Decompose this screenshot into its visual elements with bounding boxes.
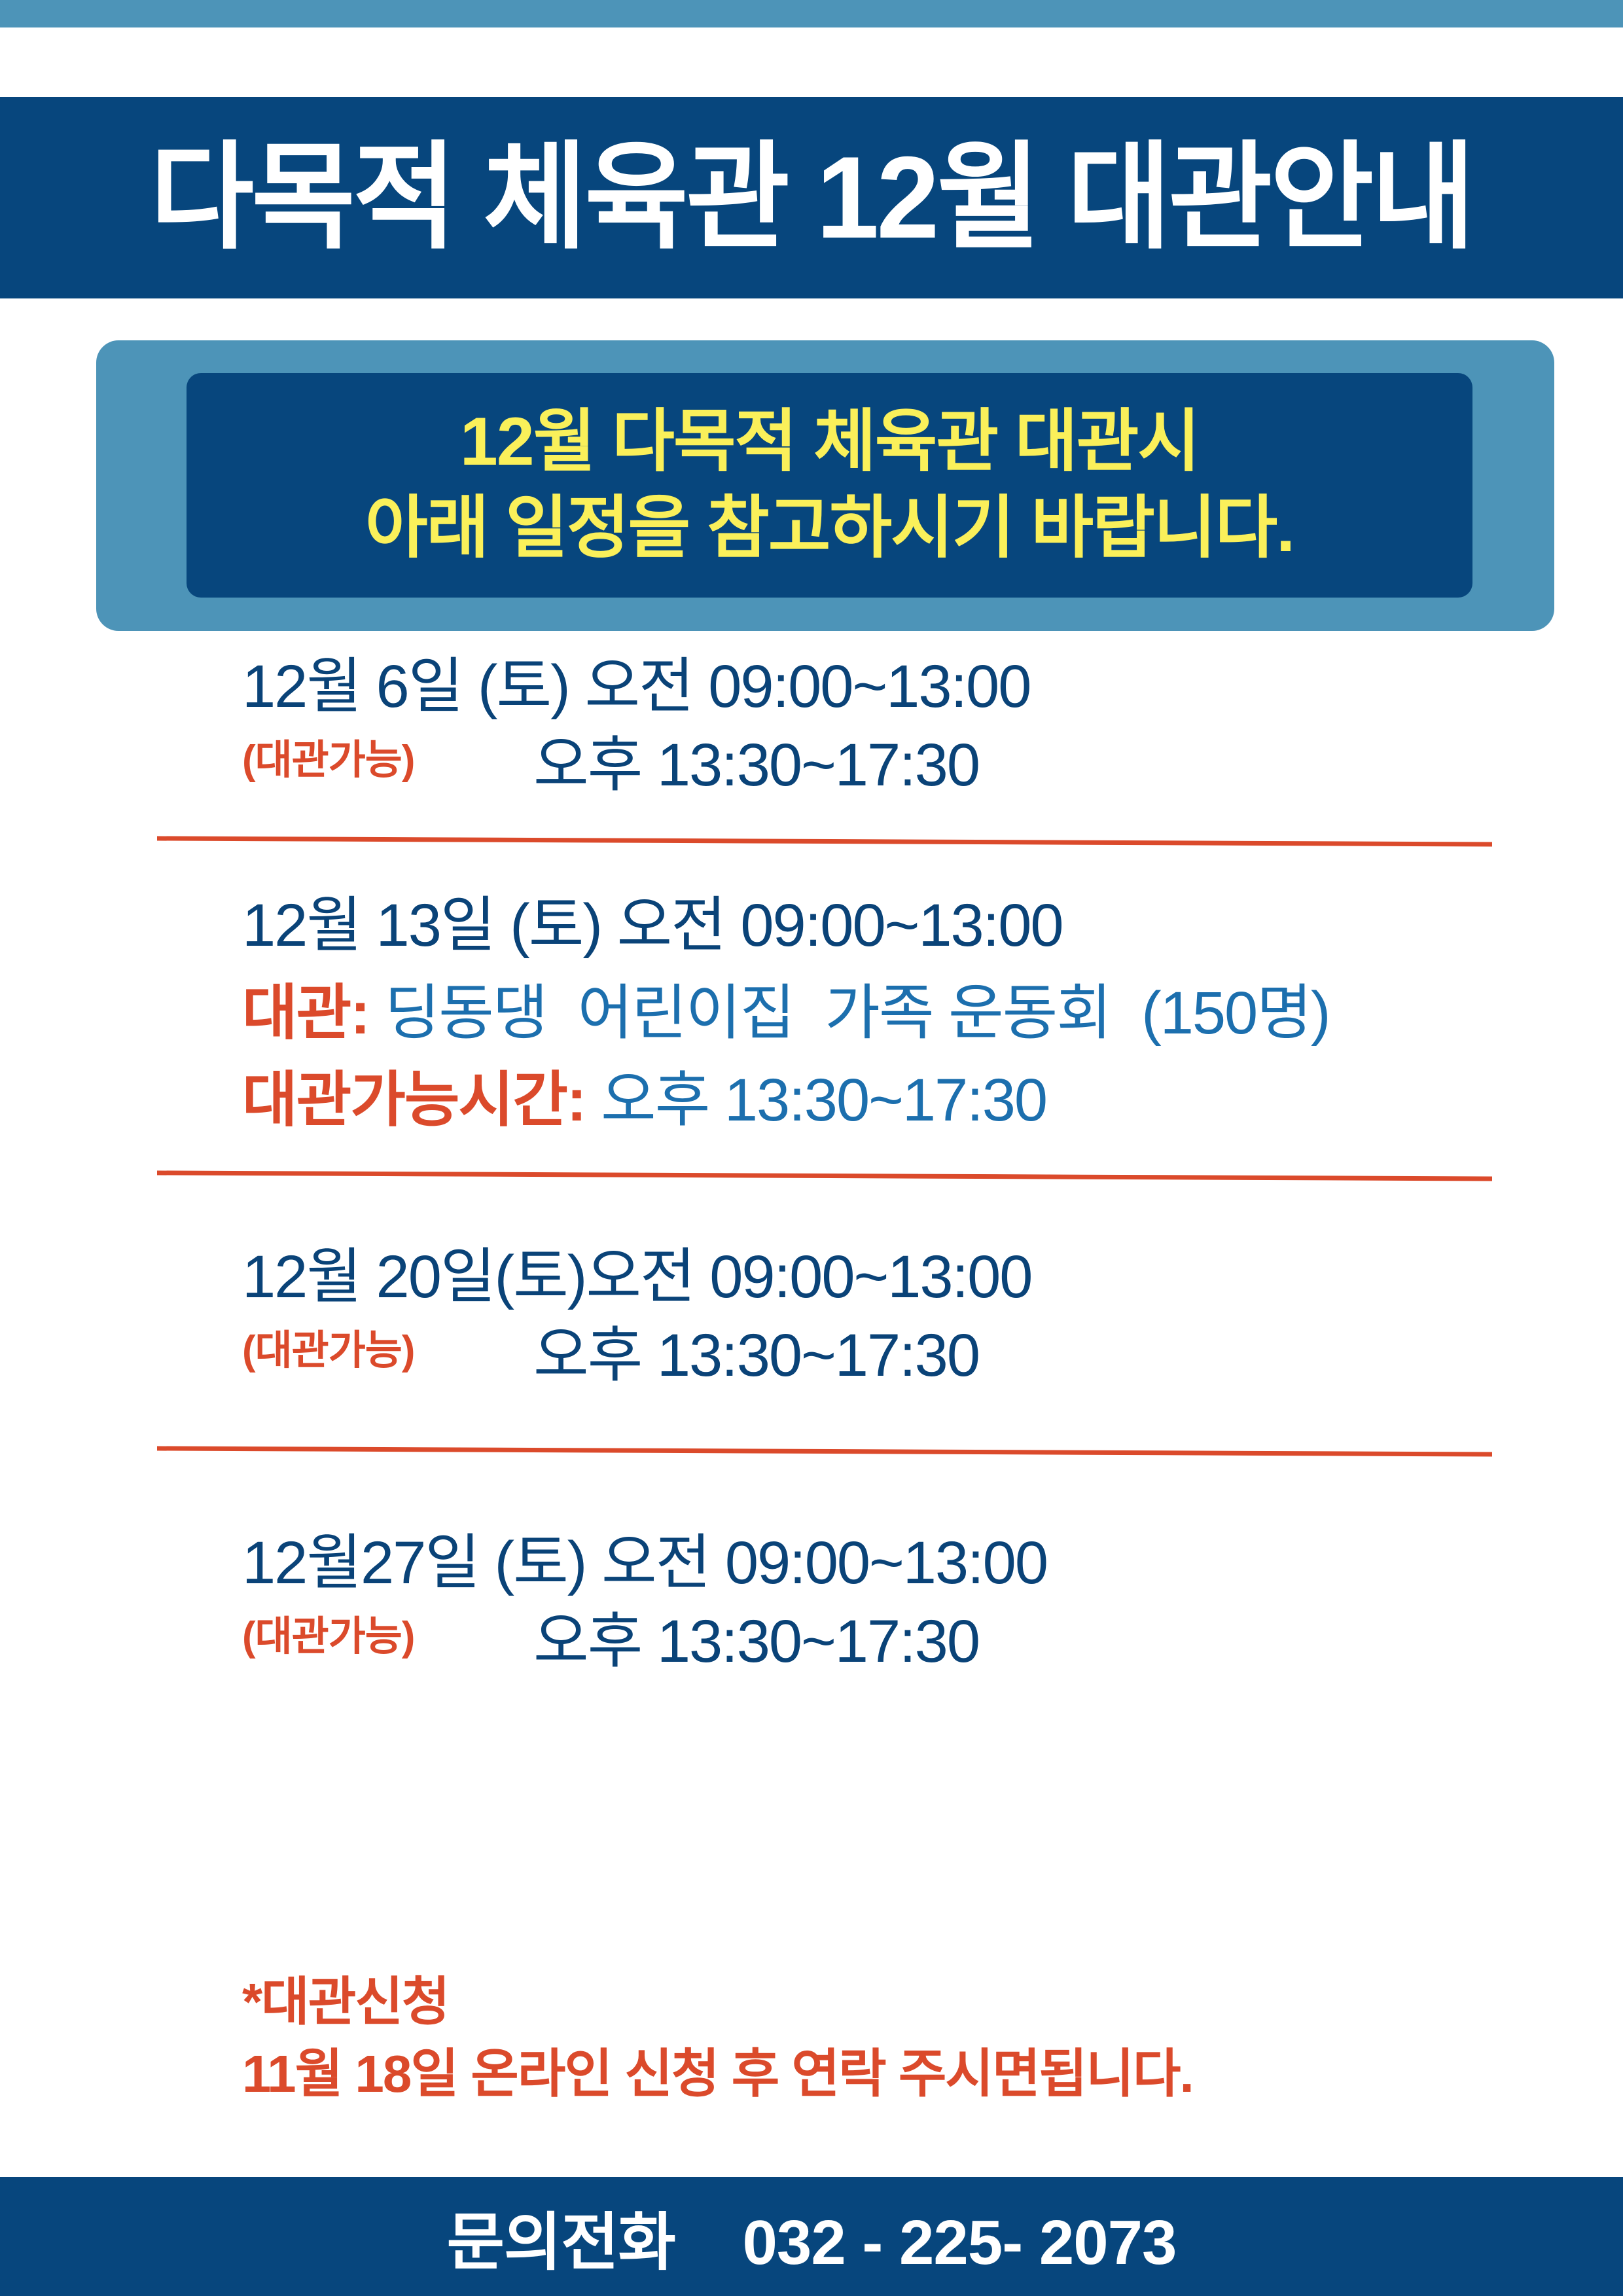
entry-divider <box>0 834 1623 849</box>
entry-date-text: 12월 13일 (토) 오전 09:00~13:00 <box>242 887 1063 965</box>
schedule-entry: 12월 13일 (토) 오전 09:00~13:00 대관: 딩동댕 어린이집 … <box>0 849 1623 1140</box>
status-badge: (대관가능) <box>242 1614 414 1659</box>
available-value: 오후 13:30~17:30 <box>601 1062 1046 1140</box>
available-label: 대관가능시간: <box>242 1062 601 1140</box>
afternoon-time-cell: 오후 13:30~17:30 <box>501 1603 979 1681</box>
title-banner: 다목적 체육관 12월 대관안내 <box>0 97 1623 298</box>
entry-date-row: 12월 20일(토)오전 09:00~13:00 <box>242 1238 1623 1317</box>
afternoon-time-cell: 오후 13:30~17:30 <box>501 726 979 805</box>
callout-line-2: 아래 일정을 참고하시기 바랍니다. <box>365 486 1294 571</box>
entry-date-text: 12월27일 (토) 오전 09:00~13:00 <box>242 1524 1047 1603</box>
application-note: *대관신청 11월 18일 온라인 신청 후 연락 주시면됩니다. <box>242 1966 1486 2111</box>
entry-available-row: 대관가능시간: 오후 13:30~17:30 <box>242 1062 1623 1140</box>
divider-line-icon <box>0 1444 1623 1459</box>
page-title: 다목적 체육관 12월 대관안내 <box>150 139 1472 256</box>
availability-tag-cell: (대관가능) <box>242 1317 501 1373</box>
entry-divider <box>0 1169 1623 1183</box>
divider-line-icon <box>0 834 1623 849</box>
footer-contact-bar: 문의전화 032 - 225- 2073 <box>0 2177 1623 2296</box>
entry-second-row: (대관가능) 오후 13:30~17:30 <box>242 1317 1623 1395</box>
entry-date-row: 12월27일 (토) 오전 09:00~13:00 <box>242 1524 1623 1603</box>
afternoon-time-cell: 오후 13:30~17:30 <box>501 1317 979 1395</box>
entry-date-text: 12월 20일(토)오전 09:00~13:00 <box>242 1238 1031 1317</box>
schedule-entry: 12월 6일 (토) 오전 09:00~13:00 (대관가능) 오후 13:3… <box>0 648 1623 804</box>
contact-phone-text: 문의전화 032 - 225- 2073 <box>447 2191 1177 2282</box>
status-badge: (대관가능) <box>242 738 414 783</box>
entry-date-text: 12월 6일 (토) 오전 09:00~13:00 <box>242 648 1030 726</box>
callout-panel: 12월 다목적 체육관 대관시 아래 일정을 참고하시기 바랍니다. <box>187 373 1472 598</box>
note-line-2: 11월 18일 온라인 신청 후 연락 주시면됩니다. <box>242 2038 1486 2110</box>
entry-second-row: (대관가능) 오후 13:30~17:30 <box>242 726 1623 805</box>
schedule-entry: 12월 20일(토)오전 09:00~13:00 (대관가능) 오후 13:30… <box>0 1183 1623 1395</box>
entry-divider <box>0 1444 1623 1459</box>
entry-booking-row: 대관: 딩동댕 어린이집 가족 운동회 (150명) <box>242 975 1623 1053</box>
callout-line-1: 12월 다목적 체육관 대관시 <box>460 399 1199 485</box>
entry-afternoon-text: 오후 13:30~17:30 <box>533 1322 979 1389</box>
entry-date-row: 12월 6일 (토) 오전 09:00~13:00 <box>242 648 1623 726</box>
schedule-list: 12월 6일 (토) 오전 09:00~13:00 (대관가능) 오후 13:3… <box>0 648 1623 1681</box>
booking-label: 대관: <box>242 975 384 1053</box>
entry-afternoon-text: 오후 13:30~17:30 <box>533 732 979 798</box>
entry-second-row: (대관가능) 오후 13:30~17:30 <box>242 1603 1623 1681</box>
schedule-entry: 12월27일 (토) 오전 09:00~13:00 (대관가능) 오후 13:3… <box>0 1459 1623 1681</box>
top-accent-bar <box>0 0 1623 27</box>
entry-date-row: 12월 13일 (토) 오전 09:00~13:00 <box>242 887 1623 965</box>
entry-afternoon-text: 오후 13:30~17:30 <box>533 1608 979 1675</box>
availability-tag-cell: (대관가능) <box>242 726 501 783</box>
divider-line-icon <box>0 1169 1623 1183</box>
status-badge: (대관가능) <box>242 1328 414 1373</box>
booking-value: 딩동댕 어린이집 가족 운동회 (150명) <box>384 975 1329 1053</box>
availability-tag-cell: (대관가능) <box>242 1603 501 1659</box>
note-line-1: *대관신청 <box>242 1966 1486 2038</box>
